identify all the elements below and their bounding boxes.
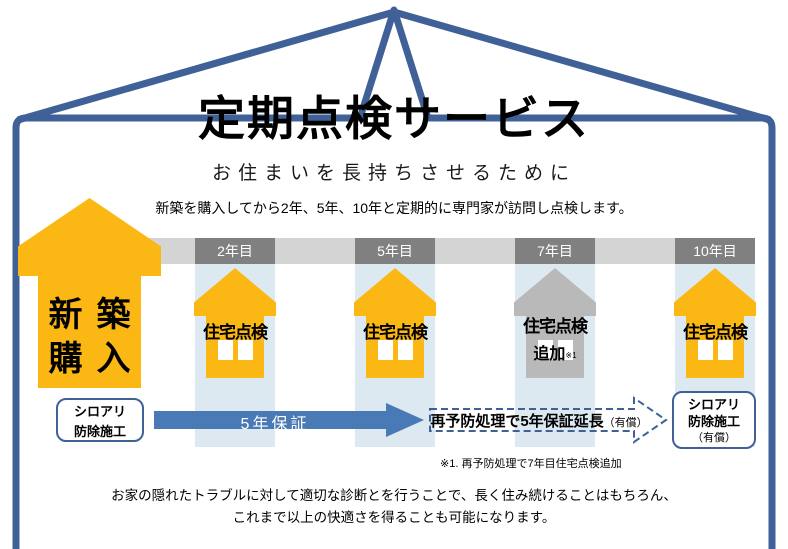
closing-line-1: お家の隠れたトラブルに対して適切な診断とを行うことで、長く住み続けることはもちろ… bbox=[0, 485, 788, 507]
warranty-arrow-5year: 5年保証 bbox=[154, 403, 424, 437]
warranty-arrow-label: 5年保証 bbox=[154, 410, 396, 434]
termite-box-line1: シロアリ bbox=[58, 402, 142, 422]
house-roof bbox=[194, 268, 276, 316]
house-new-purchase: 新築 購入 bbox=[18, 198, 161, 388]
infographic-canvas: 定期点検サービス お住まいを長持ちさせるために 新築を購入してから2年、5年、1… bbox=[0, 0, 788, 549]
warranty-extension-arrow: 再予防処理で5年保証延長（有償） bbox=[428, 395, 668, 445]
house-label-add: 追加 bbox=[533, 346, 565, 363]
house-window bbox=[238, 340, 253, 360]
house-label: 住宅点検 bbox=[514, 312, 596, 337]
house-window bbox=[718, 340, 733, 360]
termite-treatment-box-renewal: シロアリ 防除施工 （有償） bbox=[672, 391, 756, 449]
house-roof bbox=[18, 198, 161, 276]
warranty-extension-text: 再予防処理で5年保証延長 bbox=[430, 413, 603, 430]
termite-box-line2: 防除施工 bbox=[674, 413, 754, 430]
termite-box-line3: （有償） bbox=[674, 430, 754, 447]
house-inspection-5: 住宅点検 bbox=[354, 268, 436, 378]
footnote-text: ※1. 再予防処理で7年目住宅点検追加 bbox=[440, 455, 622, 471]
termite-box-line2: 防除施工 bbox=[58, 422, 142, 442]
year-chip-2: 2年目 bbox=[195, 238, 275, 264]
house-label-line1: 新築 bbox=[18, 294, 161, 336]
warranty-extension-label: 再予防処理で5年保証延長（有償） bbox=[428, 410, 650, 431]
year-chip-5: 5年目 bbox=[355, 238, 435, 264]
house-label: 住宅点検 bbox=[674, 318, 756, 343]
house-roof bbox=[354, 268, 436, 316]
house-window bbox=[698, 340, 713, 360]
house-roof bbox=[514, 268, 596, 316]
house-window bbox=[218, 340, 233, 360]
house-label-secondary: 追加※1 bbox=[514, 340, 596, 364]
termite-box-line1: シロアリ bbox=[674, 396, 754, 413]
warranty-extension-paid: （有償） bbox=[604, 417, 648, 429]
closing-line-2: これまで以上の快適さを得ることも可能になります。 bbox=[0, 507, 788, 529]
house-label: 住宅点検 bbox=[354, 318, 436, 343]
footnote-marker: ※1 bbox=[565, 351, 576, 360]
house-label-line2: 購入 bbox=[18, 338, 161, 380]
house-label: 住宅点検 bbox=[194, 318, 276, 343]
page-title: 定期点検サービス bbox=[0, 80, 788, 149]
house-roof bbox=[674, 268, 756, 316]
house-inspection-2: 住宅点検 bbox=[194, 268, 276, 378]
page-subtitle: お住まいを長持ちさせるために bbox=[0, 158, 788, 185]
house-window bbox=[378, 340, 393, 360]
house-inspection-10: 住宅点検 bbox=[674, 268, 756, 378]
house-window bbox=[398, 340, 413, 360]
house-inspection-7-optional: 住宅点検 追加※1 bbox=[514, 268, 596, 378]
closing-paragraph: お家の隠れたトラブルに対して適切な診断とを行うことで、長く住み続けることはもちろ… bbox=[0, 485, 788, 529]
year-chip-7: 7年目 bbox=[515, 238, 595, 264]
termite-treatment-box-initial: シロアリ 防除施工 bbox=[56, 398, 144, 442]
year-chip-10: 10年目 bbox=[675, 238, 755, 264]
